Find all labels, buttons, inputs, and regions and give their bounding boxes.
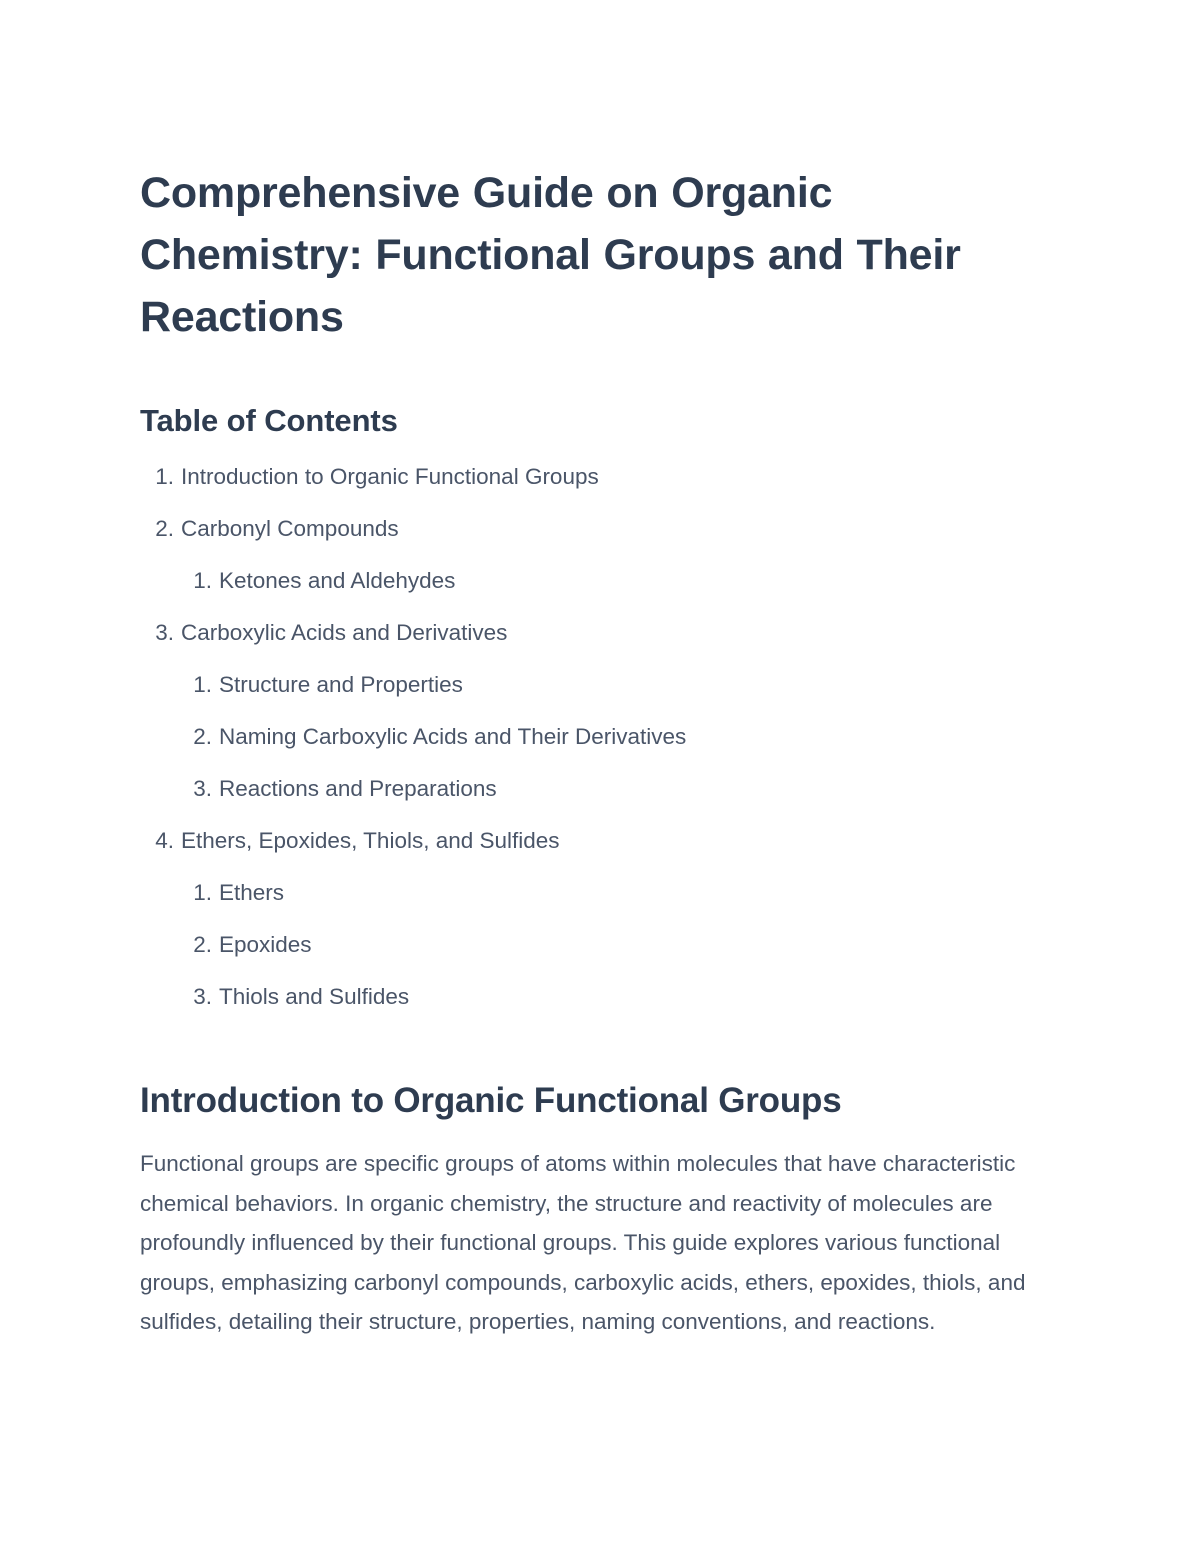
list-marker: 1. xyxy=(178,670,212,700)
toc-entry-label: Reactions and Preparations xyxy=(219,774,497,804)
table-of-contents-heading: Table of Contents xyxy=(140,348,1062,440)
list-item: 1. Introduction to Organic Functional Gr… xyxy=(140,440,1062,514)
toc-sublist: 1. Ketones and Aldehydes xyxy=(140,566,1062,618)
toc-entry-label: Introduction to Organic Functional Group… xyxy=(181,462,599,492)
toc-subentry-3-2[interactable]: 2. Naming Carboxylic Acids and Their Der… xyxy=(178,722,1062,774)
toc-subentry-2-1[interactable]: 1. Ketones and Aldehydes xyxy=(178,566,1062,618)
list-item: 2. Epoxides xyxy=(178,930,1062,982)
list-item: 2. Naming Carboxylic Acids and Their Der… xyxy=(178,722,1062,774)
list-marker: 1. xyxy=(140,462,174,492)
toc-entry-label: Carboxylic Acids and Derivatives xyxy=(181,618,507,648)
toc-entry-label: Ethers, Epoxides, Thiols, and Sulfides xyxy=(181,826,560,856)
toc-entry-label: Thiols and Sulfides xyxy=(219,982,409,1012)
document-title: Comprehensive Guide on Organic Chemistry… xyxy=(140,0,1062,348)
toc-entry-label: Naming Carboxylic Acids and Their Deriva… xyxy=(219,722,686,752)
list-marker: 2. xyxy=(140,514,174,544)
toc-entry-label: Ketones and Aldehydes xyxy=(219,566,455,596)
toc-entry-label: Epoxides xyxy=(219,930,312,960)
document-content: Comprehensive Guide on Organic Chemistry… xyxy=(140,0,1062,1342)
list-marker: 2. xyxy=(178,722,212,752)
toc-sublist: 1. Structure and Properties 2. Naming Ca… xyxy=(140,670,1062,826)
toc-entry-label: Structure and Properties xyxy=(219,670,463,700)
list-item: 2. Carbonyl Compounds 1. Ketones and Ald… xyxy=(140,514,1062,618)
list-item: 3. Reactions and Preparations xyxy=(178,774,1062,826)
toc-subentry-4-2[interactable]: 2. Epoxides xyxy=(178,930,1062,982)
toc-subentry-3-3[interactable]: 3. Reactions and Preparations xyxy=(178,774,1062,826)
toc-subentry-4-3[interactable]: 3. Thiols and Sulfides xyxy=(178,982,1062,1034)
toc-entry-3[interactable]: 3. Carboxylic Acids and Derivatives xyxy=(140,618,1062,670)
introduction-section-heading: Introduction to Organic Functional Group… xyxy=(140,1034,1062,1122)
toc-entry-2[interactable]: 2. Carbonyl Compounds xyxy=(140,514,1062,566)
list-marker: 1. xyxy=(178,878,212,908)
toc-subentry-4-1[interactable]: 1. Ethers xyxy=(178,878,1062,930)
list-item: 3. Carboxylic Acids and Derivatives 1. S… xyxy=(140,618,1062,826)
list-marker: 3. xyxy=(140,618,174,648)
list-marker: 2. xyxy=(178,930,212,960)
list-marker: 3. xyxy=(178,774,212,804)
toc-sublist: 1. Ethers 2. Epoxides 3. Thiols an xyxy=(140,878,1062,1034)
list-item: 4. Ethers, Epoxides, Thiols, and Sulfide… xyxy=(140,826,1062,1034)
toc-entry-1[interactable]: 1. Introduction to Organic Functional Gr… xyxy=(140,440,1062,514)
toc-entry-label: Carbonyl Compounds xyxy=(181,514,399,544)
list-item: 1. Ethers xyxy=(178,878,1062,930)
list-item: 1. Ketones and Aldehydes xyxy=(178,566,1062,618)
list-marker: 1. xyxy=(178,566,212,596)
list-marker: 3. xyxy=(178,982,212,1012)
list-item: 1. Structure and Properties xyxy=(178,670,1062,722)
list-marker: 4. xyxy=(140,826,174,856)
toc-subentry-3-1[interactable]: 1. Structure and Properties xyxy=(178,670,1062,722)
introduction-paragraph: Functional groups are specific groups of… xyxy=(140,1122,1060,1342)
toc-entry-label: Ethers xyxy=(219,878,284,908)
document-page: Comprehensive Guide on Organic Chemistry… xyxy=(0,0,1200,1553)
table-of-contents-list: 1. Introduction to Organic Functional Gr… xyxy=(140,440,1062,1034)
toc-entry-4[interactable]: 4. Ethers, Epoxides, Thiols, and Sulfide… xyxy=(140,826,1062,878)
list-item: 3. Thiols and Sulfides xyxy=(178,982,1062,1034)
